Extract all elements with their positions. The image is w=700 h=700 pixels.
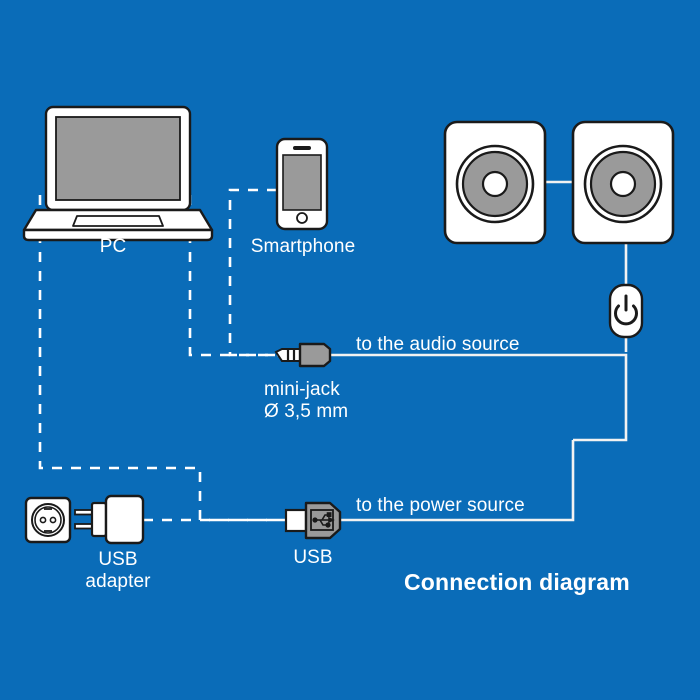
label-usb-adapter-line2: adapter <box>85 570 150 593</box>
label-minijack: mini-jack <box>264 378 340 401</box>
speaker-icon-right[interactable] <box>573 122 673 243</box>
label-smartphone: Smartphone <box>251 235 356 258</box>
smartphone-home-button[interactable] <box>297 213 307 223</box>
minijack-connector-icon[interactable] <box>276 344 330 366</box>
label-minijack-diameter: Ø 3,5 mm <box>264 400 348 423</box>
label-to-power-source: to the power source <box>356 494 525 517</box>
connection-diagram: PC Smartphone to the audio source mini-j… <box>0 0 700 700</box>
wall-socket-icon <box>26 498 70 542</box>
smartphone-speaker-slot <box>293 146 311 150</box>
laptop-icon[interactable] <box>24 107 212 240</box>
usb-connector-icon[interactable] <box>286 503 340 538</box>
page-title: Connection diagram <box>404 569 630 596</box>
smartphone-screen <box>283 155 321 210</box>
label-to-audio-source: to the audio source <box>356 333 520 356</box>
label-usb: USB <box>293 546 332 569</box>
label-pc: PC <box>100 235 127 258</box>
usb-adapter-icon[interactable] <box>75 496 143 543</box>
smartphone-icon[interactable] <box>277 139 327 229</box>
speaker-icon-left[interactable] <box>445 122 545 243</box>
power-button-icon[interactable] <box>610 285 642 337</box>
label-usb-adapter-line1: USB <box>98 548 137 571</box>
